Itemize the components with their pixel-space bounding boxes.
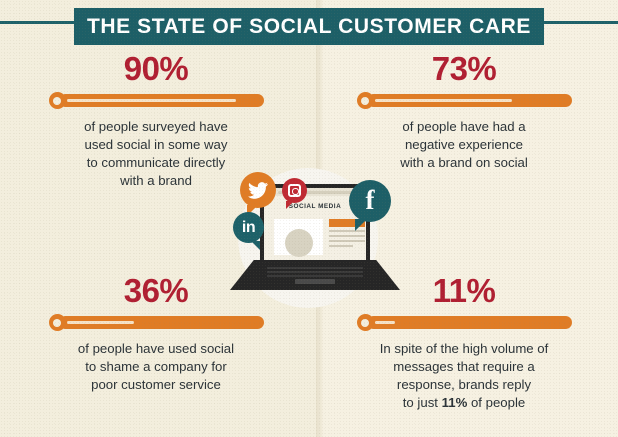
stat-line: of people have had a bbox=[334, 118, 594, 136]
stat-description-11: In spite of the high volume of messages … bbox=[334, 340, 594, 412]
stat-line: used social in some way bbox=[26, 136, 286, 154]
stat-line: of people have used social bbox=[26, 340, 286, 358]
facebook-glyph: f bbox=[366, 187, 375, 214]
progress-bar-11 bbox=[357, 314, 572, 331]
screen-text-line bbox=[329, 245, 353, 247]
progress-track bbox=[367, 316, 572, 329]
keyboard-row bbox=[267, 271, 362, 273]
stat-percent-90: 90% bbox=[26, 52, 286, 85]
stat-line: of people surveyed have bbox=[26, 118, 286, 136]
stat-line-emphasis: to just 11% of people bbox=[334, 394, 594, 412]
instagram-camera-glyph bbox=[288, 184, 301, 197]
instagram-icon bbox=[282, 178, 307, 203]
facebook-icon: f bbox=[349, 180, 391, 222]
laptop-illustration: SOCIAL MEDIA bbox=[214, 160, 414, 305]
progress-bar-73 bbox=[357, 92, 572, 109]
infographic-root: THE STATE OF SOCIAL CUSTOMER CARE 90% of… bbox=[0, 0, 618, 437]
stat-description-36: of people have used social to shame a co… bbox=[26, 340, 286, 394]
stat-line: poor customer service bbox=[26, 376, 286, 394]
keyboard-row bbox=[267, 267, 362, 269]
stat-line: negative experience bbox=[334, 136, 594, 154]
progress-knob-icon bbox=[357, 314, 374, 331]
progress-knob-icon bbox=[49, 92, 66, 109]
stat-percent-73: 73% bbox=[334, 52, 594, 85]
page-title: THE STATE OF SOCIAL CUSTOMER CARE bbox=[87, 15, 531, 39]
trackpad bbox=[295, 279, 336, 284]
progress-knob-icon bbox=[49, 314, 66, 331]
twitter-icon bbox=[240, 172, 276, 208]
stat-line: response, brands reply bbox=[334, 376, 594, 394]
stat-line: In spite of the high volume of bbox=[334, 340, 594, 358]
progress-fill bbox=[67, 99, 236, 102]
progress-fill bbox=[375, 321, 396, 324]
linkedin-icon: in bbox=[233, 212, 264, 243]
progress-bar-36 bbox=[49, 314, 264, 331]
screen-text-line bbox=[329, 235, 365, 237]
progress-knob-icon bbox=[357, 92, 374, 109]
progress-fill bbox=[375, 99, 512, 102]
stat-line: to shame a company for bbox=[26, 358, 286, 376]
stat-line: messages that require a bbox=[334, 358, 594, 376]
screen-text-line bbox=[329, 240, 365, 242]
bubble-tail bbox=[286, 201, 294, 209]
bubble-tail bbox=[355, 219, 367, 231]
linkedin-glyph: in bbox=[242, 219, 255, 237]
keyboard-row bbox=[267, 275, 362, 277]
stat-card-73: 73% of people have had a negative experi… bbox=[334, 52, 594, 172]
progress-fill bbox=[67, 321, 135, 324]
title-banner: THE STATE OF SOCIAL CUSTOMER CARE bbox=[74, 8, 544, 45]
progress-bar-90 bbox=[49, 92, 264, 109]
screen-photo-placeholder bbox=[274, 219, 323, 255]
bubble-tail bbox=[251, 241, 260, 250]
laptop-base bbox=[230, 260, 400, 290]
